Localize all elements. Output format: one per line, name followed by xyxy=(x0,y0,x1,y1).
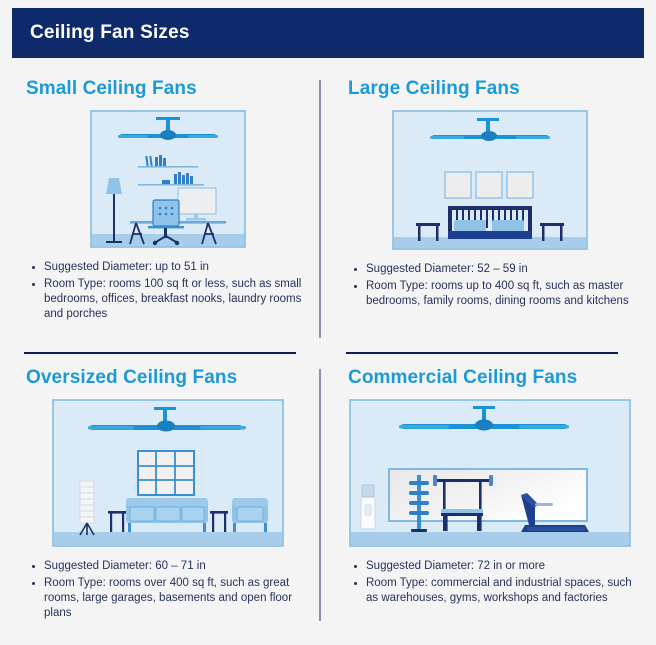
infographic-page: Ceiling Fan Sizes Small Ceiling Fans xyxy=(0,0,656,645)
list-item: Suggested Diameter: up to 51 in xyxy=(30,260,322,275)
illustration-wrap-small xyxy=(12,110,324,248)
divider-vertical-top xyxy=(319,80,321,338)
home-office-room-illustration xyxy=(90,110,246,248)
list-item: Suggested Diameter: 60 – 71 in xyxy=(30,559,322,574)
header-bar: Ceiling Fan Sizes xyxy=(12,8,644,58)
list-item: Suggested Diameter: 52 – 59 in xyxy=(352,262,644,277)
sections-grid: Small Ceiling Fans xyxy=(0,66,656,645)
bullet-list-oversized: Suggested Diameter: 60 – 71 in Room Type… xyxy=(30,559,324,621)
illustration-wrap-large xyxy=(334,110,646,250)
list-item: Room Type: rooms 100 sq ft or less, such… xyxy=(30,277,322,322)
section-large: Large Ceiling Fans xyxy=(334,66,646,311)
section-commercial: Commercial Ceiling Fans xyxy=(334,355,646,608)
section-title-small: Small Ceiling Fans xyxy=(26,78,324,100)
gym-room-illustration xyxy=(349,399,631,547)
illustration-wrap-commercial xyxy=(334,399,646,547)
divider-horizontal-left xyxy=(24,352,296,354)
illustration-wrap-oversized xyxy=(12,399,324,547)
living-room-illustration xyxy=(52,399,284,547)
section-oversized: Oversized Ceiling Fans xyxy=(12,355,324,623)
divider-vertical-bottom xyxy=(319,369,321,621)
divider-horizontal-right xyxy=(346,352,618,354)
page-title: Ceiling Fan Sizes xyxy=(30,22,190,44)
section-small: Small Ceiling Fans xyxy=(12,66,324,324)
bullet-list-large: Suggested Diameter: 52 – 59 in Room Type… xyxy=(352,262,646,309)
list-item: Room Type: rooms over 400 sq ft, such as… xyxy=(30,576,322,621)
bullet-list-commercial: Suggested Diameter: 72 in or more Room T… xyxy=(352,559,646,606)
section-title-commercial: Commercial Ceiling Fans xyxy=(348,367,646,389)
list-item: Room Type: commercial and industrial spa… xyxy=(352,576,644,606)
bullet-list-small: Suggested Diameter: up to 51 in Room Typ… xyxy=(30,260,324,322)
master-bedroom-room-illustration xyxy=(392,110,588,250)
list-item: Room Type: rooms up to 400 sq ft, such a… xyxy=(352,279,644,309)
list-item: Suggested Diameter: 72 in or more xyxy=(352,559,644,574)
section-title-large: Large Ceiling Fans xyxy=(348,78,646,100)
section-title-oversized: Oversized Ceiling Fans xyxy=(26,367,324,389)
